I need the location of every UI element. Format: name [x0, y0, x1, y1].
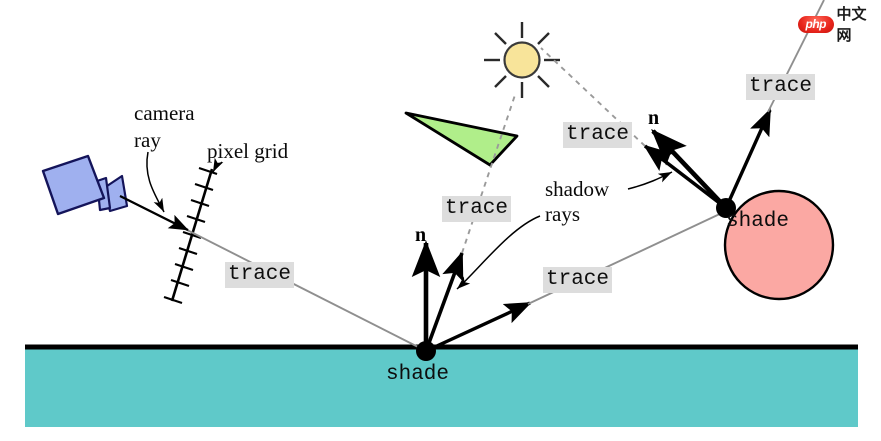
- pixel-grid-label: pixel grid: [207, 139, 288, 164]
- trace-label-sphere-shadow: trace: [563, 122, 632, 148]
- sphere-shadow-ray-arrow: [645, 146, 726, 208]
- php-watermark-text: 中文网: [837, 3, 881, 45]
- floor-plane: [25, 348, 858, 427]
- shadow-rays-leader-sphere: [628, 172, 672, 189]
- pixel-grid: [164, 168, 217, 303]
- camera-ray-label-line2: ray: [134, 128, 161, 153]
- sphere-normal-arrow: [653, 131, 726, 208]
- camera-ray-label-line1: camera: [134, 101, 195, 126]
- camera-body: [43, 156, 104, 214]
- camera-object: [43, 156, 127, 214]
- sun-light-source: [484, 22, 560, 98]
- sphere-shade-label: shade: [726, 210, 789, 233]
- camera-ray-arrow-segment: [120, 196, 188, 230]
- trace-label-floor-reflect: trace: [543, 267, 612, 293]
- shadow-rays-leader-floor: [457, 216, 540, 289]
- floor-plane-group: [25, 347, 858, 427]
- ray-tracing-diagram-canvas: camera ray pixel grid shadow rays n n sh…: [0, 0, 881, 441]
- camera-ray-leader: [147, 152, 164, 212]
- trace-label-sphere-reflect: trace: [746, 74, 815, 100]
- pink-sphere: [725, 191, 833, 299]
- floor-hit-point: [416, 341, 436, 361]
- floor-shadow-ray-dashed: [462, 92, 516, 253]
- floor-normal-label: n: [415, 224, 426, 247]
- floor-shade-label: shade: [386, 363, 449, 386]
- shadow-rays-label-line1: shadow: [545, 177, 609, 202]
- trace-label-camera-ray: trace: [225, 262, 294, 288]
- sphere-normal-label: n: [648, 107, 659, 130]
- php-watermark: php 中文网: [798, 3, 881, 45]
- trace-label-floor-shadow: trace: [442, 196, 511, 222]
- sun-disc: [505, 43, 540, 78]
- pixel-grid-ticks: [164, 168, 217, 303]
- php-logo-icon: php: [798, 16, 834, 33]
- shadow-rays-label-line2: rays: [545, 202, 580, 227]
